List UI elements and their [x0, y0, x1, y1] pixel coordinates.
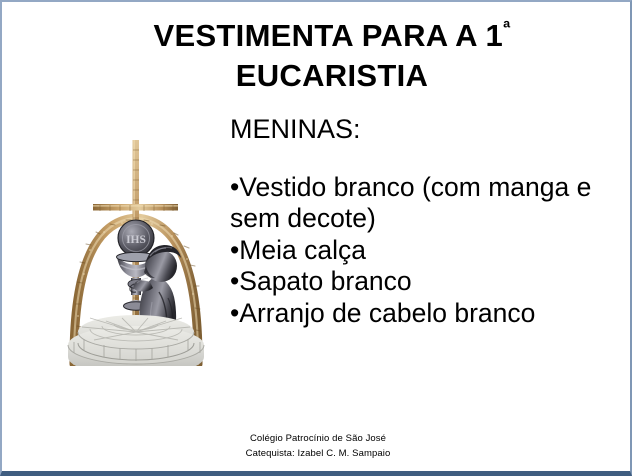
- list-item: •Sapato branco: [230, 266, 626, 298]
- bullet-marker: •: [230, 235, 239, 265]
- list-item: •Vestido branco (com manga e sem decote): [230, 172, 626, 235]
- title-ordinal-indicator: ª: [503, 19, 510, 40]
- list-item: •Meia calça: [230, 235, 626, 267]
- page-title: VESTIMENTA PARA A 1ª EUCARISTIA: [62, 16, 602, 95]
- svg-text:IHS: IHS: [126, 234, 146, 246]
- list-item-label: Meia calça: [239, 235, 366, 265]
- list-item-label: Arranjo de cabelo branco: [239, 298, 535, 328]
- stone-base: [68, 315, 204, 366]
- body-content: MENINAS: •Vestido branco (com manga e se…: [230, 114, 626, 330]
- list-item-label: Vestido branco (com manga e sem decote): [230, 172, 591, 234]
- footer-catechist-name: Catequista: Izabel C. M. Sampaio: [2, 447, 632, 462]
- list-item-label: Sapato branco: [239, 266, 411, 296]
- section-subheading: MENINAS:: [230, 114, 626, 146]
- slide-canvas: VESTIMENTA PARA A 1ª EUCARISTIA: [0, 0, 632, 476]
- slide-footer: Colégio Patrocínio de São José Catequist…: [2, 432, 632, 461]
- bullet-marker: •: [230, 298, 239, 328]
- title-line-2: EUCARISTIA: [236, 58, 428, 93]
- title-line-1: VESTIMENTA PARA A 1: [153, 18, 503, 53]
- clothing-requirements-list: •Vestido branco (com manga e sem decote)…: [230, 172, 626, 330]
- list-item: •Arranjo de cabelo branco: [230, 298, 626, 330]
- bullet-marker: •: [230, 266, 239, 296]
- footer-school-name: Colégio Patrocínio de São José: [2, 432, 632, 447]
- first-communion-statuette-image: IHS: [60, 126, 212, 366]
- bullet-marker: •: [230, 172, 239, 202]
